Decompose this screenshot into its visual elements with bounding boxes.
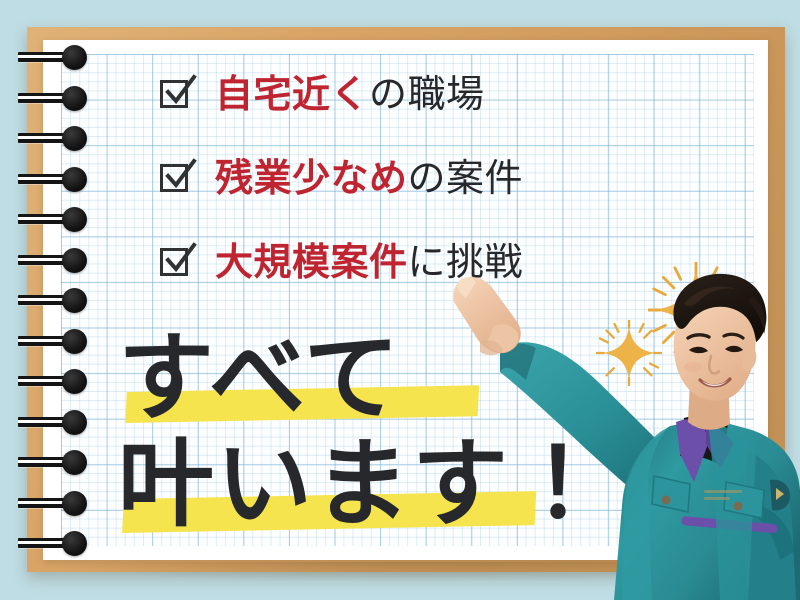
spiral-ring <box>18 490 94 516</box>
pointing-hand <box>453 277 521 355</box>
slogan-text-1: すべて <box>118 322 401 434</box>
checked-box-icon <box>160 246 193 279</box>
banner-canvas: 自宅近くの職場 残業少なめの案件 大規模案件に挑戦 すべて 叶います！ <box>0 0 800 600</box>
spiral-ring <box>18 44 94 70</box>
checked-box-icon <box>160 78 193 111</box>
spiral-ring <box>18 530 94 556</box>
spiral-ring <box>18 85 94 111</box>
spiral-ring <box>18 206 94 232</box>
worker-photo <box>408 268 800 600</box>
checklist-plain: の案件 <box>408 156 524 200</box>
checklist-text: 自宅近くの職場 <box>215 75 485 113</box>
spiral-ring <box>18 247 94 273</box>
spiral-ring <box>18 368 94 394</box>
checklist-text: 残業少なめの案件 <box>215 159 523 197</box>
list-item: 残業少なめの案件 <box>160 136 680 220</box>
spiral-ring <box>18 449 94 475</box>
checked-box-icon <box>160 162 193 195</box>
checklist-highlight: 残業少なめ <box>215 156 408 200</box>
checklist: 自宅近くの職場 残業少なめの案件 大規模案件に挑戦 <box>160 52 680 304</box>
spiral-binding <box>0 0 130 600</box>
checklist-highlight: 自宅近く <box>215 72 369 116</box>
checklist-plain: の職場 <box>369 72 485 116</box>
spiral-ring <box>18 287 94 313</box>
checklist-highlight: 大規模案件 <box>215 240 408 284</box>
spiral-ring <box>18 166 94 192</box>
spiral-ring <box>18 328 94 354</box>
spiral-ring <box>18 125 94 151</box>
spiral-ring <box>18 409 94 435</box>
list-item: 自宅近くの職場 <box>160 52 680 136</box>
